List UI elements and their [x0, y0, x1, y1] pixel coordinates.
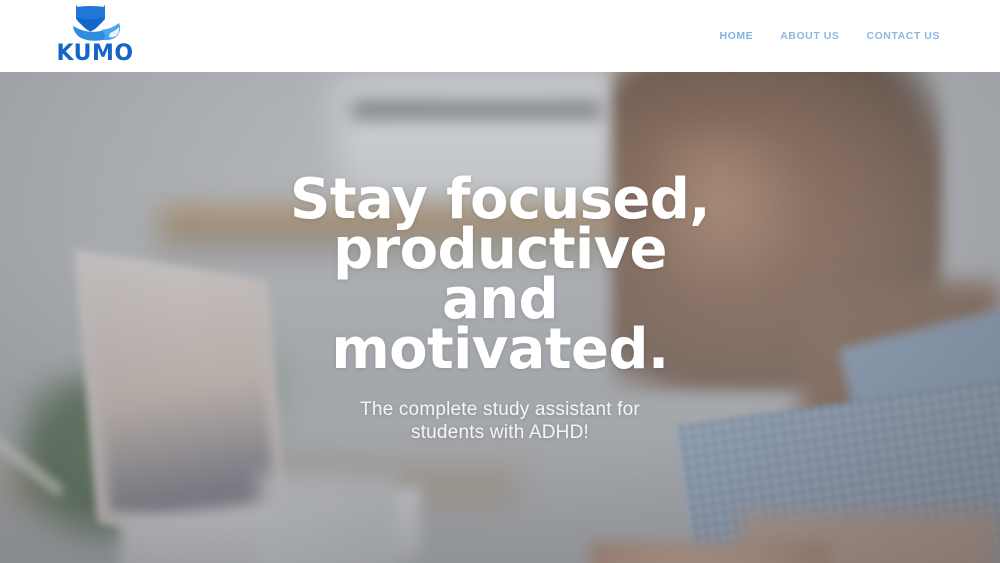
hero-subheadline: The complete study assistant for student…	[360, 398, 640, 444]
hero-headline: Stay focused, productive and motivated.	[290, 175, 710, 375]
fox-logo-icon	[66, 2, 124, 42]
brand-wordmark: KUMO	[56, 43, 133, 65]
page-root: KUMO HOME ABOUT US CONTACT US	[0, 0, 1000, 563]
brand-logo-link[interactable]: KUMO	[55, 2, 135, 70]
hero-headline-line-4: motivated.	[331, 317, 668, 382]
hero-section: Stay focused, productive and motivated. …	[0, 72, 1000, 563]
site-header: KUMO HOME ABOUT US CONTACT US	[0, 0, 1000, 72]
hero-subheadline-line-2: students with ADHD!	[411, 422, 589, 443]
nav-item-about-us[interactable]: ABOUT US	[780, 30, 839, 42]
main-navigation: HOME ABOUT US CONTACT US	[720, 0, 941, 72]
nav-item-home[interactable]: HOME	[720, 30, 754, 42]
hero-content: Stay focused, productive and motivated. …	[0, 72, 1000, 563]
hero-subheadline-line-1: The complete study assistant for	[360, 399, 640, 420]
nav-item-contact-us[interactable]: CONTACT US	[866, 30, 940, 42]
